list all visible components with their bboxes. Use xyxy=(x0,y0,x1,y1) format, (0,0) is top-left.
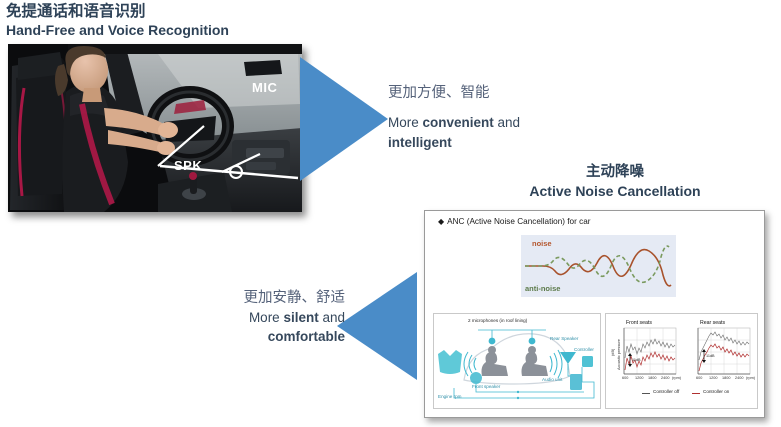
callout-convenient-english-line2: intelligent xyxy=(388,133,520,153)
page-title-chinese: 免提通话和语音识别 xyxy=(6,2,366,21)
front-xtick-3: 2400 xyxy=(661,376,669,380)
front-seats-chart-title: Front seats xyxy=(626,320,652,326)
rear-xtick-3: 2400 xyxy=(735,376,743,380)
text-and-2: and xyxy=(319,310,345,325)
arrow-right-icon xyxy=(300,57,388,181)
callout-silent-english-line2: comfortable xyxy=(185,327,345,346)
noise-label: noise xyxy=(532,239,552,248)
acoustic-pressure-charts: Front seats Rear seats Acoustic pressure… xyxy=(605,313,758,409)
text-comfortable: comfortable xyxy=(268,329,345,344)
arrow-left-icon xyxy=(337,272,417,380)
front-xtick-2: 1800 xyxy=(648,376,656,380)
car-interior-photo: MIC SPK xyxy=(8,44,302,212)
front-xtick-1: 1200 xyxy=(635,376,643,380)
audio-unit-label: Audio unit xyxy=(542,377,562,382)
rear-xtick-0: 600 xyxy=(696,376,702,380)
rear-xtick-1: 1200 xyxy=(709,376,717,380)
callout-convenient-english-line1: More convenient and xyxy=(388,113,520,133)
rear-delta-annotation: 11dB xyxy=(706,354,715,358)
y-axis-label: Acoustic pressure xyxy=(616,339,621,370)
anc-title-chinese: 主动降噪 xyxy=(470,163,760,182)
page-title: 免提通话和语音识别 Hand-Free and Voice Recognitio… xyxy=(6,2,366,39)
callout-silent: 更加安静、舒适 More silent and comfortable xyxy=(185,288,345,346)
mic-label: MIC xyxy=(252,80,277,95)
spk-label: SPK xyxy=(174,158,202,173)
anc-panel-heading: ◆ANC (Active Noise Cancellation) for car xyxy=(438,217,591,226)
text-and: and xyxy=(494,115,520,130)
anc-title-english: Active Noise Cancellation xyxy=(470,182,760,200)
front-xtick-0: 600 xyxy=(622,376,628,380)
cabin-anc-schematic: 2 microphones (in roof lining) Rear Spea… xyxy=(433,313,601,409)
legend-controller-off: Controller off xyxy=(653,389,679,394)
text-more: More xyxy=(388,115,423,130)
controller-label: Controller xyxy=(574,347,594,352)
front-speaker-label: Front speaker xyxy=(472,384,500,389)
text-more-2: More xyxy=(249,310,284,325)
callout-convenient-chinese: 更加方便、智能 xyxy=(388,82,520,104)
legend-swatch-off xyxy=(642,393,650,394)
rear-speaker-label: Rear Speaker xyxy=(550,336,578,341)
text-convenient: convenient xyxy=(423,115,494,130)
diamond-bullet-icon: ◆ xyxy=(438,217,444,226)
anti-noise-label: anti-noise xyxy=(525,284,560,293)
anc-title: 主动降噪 Active Noise Cancellation xyxy=(470,163,760,200)
legend-controller-on: Controller on xyxy=(703,389,729,394)
anc-diagram-panel: ◆ANC (Active Noise Cancellation) for car… xyxy=(424,210,765,418)
front-delta-annotation: 11dB xyxy=(632,358,641,362)
text-intelligent: intelligent xyxy=(388,135,452,150)
page-title-english: Hand-Free and Voice Recognition xyxy=(6,21,366,39)
callout-convenient: 更加方便、智能 More convenient and intelligent xyxy=(388,82,520,153)
rear-x-unit: (rpm) xyxy=(746,376,755,380)
engine-rpm-label: Engine rpm xyxy=(438,394,462,399)
y-axis-unit: (dB) xyxy=(610,349,615,356)
text-silent: silent xyxy=(283,310,318,325)
callout-silent-english-line1: More silent and xyxy=(185,308,345,327)
microphones-label: 2 microphones (in roof lining) xyxy=(468,318,527,323)
callout-silent-chinese: 更加安静、舒适 xyxy=(185,288,345,308)
rear-xtick-2: 1800 xyxy=(722,376,730,380)
anc-panel-heading-text: ANC (Active Noise Cancellation) for car xyxy=(447,217,590,226)
legend-swatch-on xyxy=(692,393,700,394)
front-x-unit: (rpm) xyxy=(672,376,681,380)
rear-seats-chart-title: Rear seats xyxy=(700,320,725,326)
